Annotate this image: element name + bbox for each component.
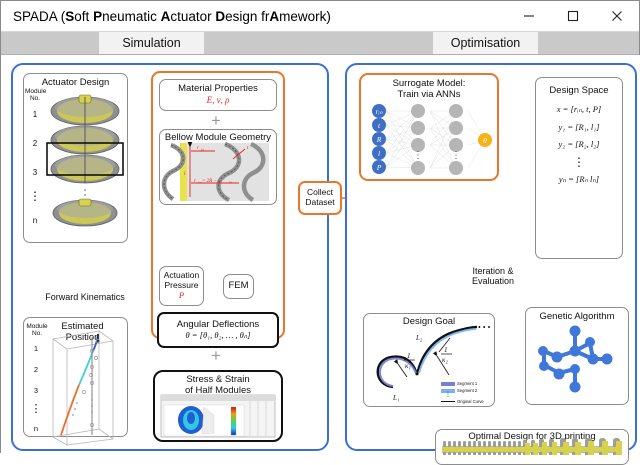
est-module-1: 1 — [28, 345, 44, 353]
est-module-label-2: No. — [32, 330, 42, 337]
actuator-module-n: n — [27, 217, 43, 226]
design-space-row-3: y₂ = [R₂, l₂] — [558, 140, 599, 150]
genetic-algorithm-box: Genetic Algorithm — [525, 307, 629, 405]
surrogate-model-title-2: Train via ANNs — [398, 90, 461, 101]
tab-optimisation[interactable]: Optimisation — [433, 32, 538, 54]
iteration-label-2: Evaluation — [472, 276, 514, 286]
ann-hidden1-dots: ⋮ — [411, 152, 425, 160]
ann-hidden1-node-1 — [411, 104, 425, 118]
design-space-row-n: yₙ = [Rₙ lₙ] — [559, 175, 599, 185]
est-module-n: n — [28, 425, 44, 433]
tab-bar: Simulation Optimisation — [1, 32, 639, 55]
design-space-row-2: y₁ = [R₁, l₁] — [558, 123, 599, 133]
optimal-design-title: Optimal Design for 3D printing — [468, 432, 595, 443]
maximize-icon[interactable] — [551, 1, 595, 31]
ann-input-node-2: t — [372, 118, 386, 132]
ann-hidden2-node-2 — [449, 121, 463, 135]
actuator-design-title: Actuator Design — [42, 78, 110, 89]
actuator-module-2: 2 — [27, 140, 43, 149]
application-window: SPADA (Soft Pneumatic Actuator Design fr… — [0, 0, 640, 453]
page-title: SPADA (Soft Pneumatic Actuator Design fr… — [13, 9, 331, 24]
close-icon[interactable] — [595, 1, 639, 31]
ann-input-node-5: P — [372, 160, 386, 174]
module-label-2: No. — [30, 95, 40, 102]
stress-strain-box: Stress & Strain of Half Modules — [153, 370, 283, 442]
minimize-icon[interactable] — [507, 1, 551, 31]
ann-hidden2-node-4 — [449, 161, 463, 175]
est-module-2: 2 — [28, 366, 44, 374]
angular-deflections-box: Angular Deflections θ = [θ₁, θ₂, … , θₙ] — [157, 312, 279, 348]
design-space-title: Design Space — [549, 86, 608, 97]
fem-label: FEM — [228, 281, 248, 292]
genetic-algorithm-title: Genetic Algorithm — [540, 312, 615, 323]
actuation-pressure-symbol: P — [179, 291, 184, 301]
plus-sign-2: + — [211, 347, 221, 364]
ann-hidden1-node-2 — [411, 121, 425, 135]
ann-input-node-1: rᵢₙ — [372, 104, 386, 118]
est-module-label-1: Module — [26, 323, 47, 330]
fem-box: FEM — [223, 274, 254, 299]
angular-deflections-title: Angular Deflections — [177, 320, 259, 331]
collect-dataset-box: Collect Dataset — [298, 181, 342, 215]
ann-output-node: θ — [478, 133, 492, 147]
title-bar: SPADA (Soft Pneumatic Actuator Design fr… — [1, 1, 639, 32]
material-properties-box: Material Properties E, ν, ρ — [159, 79, 277, 111]
estimated-module-header: Module No. — [26, 323, 48, 337]
collect-dataset-line2: Dataset — [305, 198, 334, 208]
window-controls — [507, 1, 639, 31]
design-goal-legend-item-4: Original Curve — [441, 399, 484, 404]
ann-hidden2-node-1 — [449, 104, 463, 118]
design-goal-legend-item-1: Segment 1 — [441, 381, 477, 386]
bellow-geometry-box: Bellow Module Geometry — [159, 129, 277, 205]
design-goal-legend-dots: ⋮ — [445, 393, 451, 398]
ann-input-node-3: R — [372, 132, 386, 146]
tab-optimisation-label: Optimisation — [451, 36, 520, 50]
legend-label-segment-2: Segment 2 — [457, 388, 477, 393]
est-module-dots: ⋮ — [28, 403, 44, 415]
module-label-1: Module — [25, 88, 46, 95]
forward-kinematics-label: Forward Kinematics — [29, 292, 141, 302]
est-module-3: 3 — [28, 387, 44, 395]
stress-strain-title-2: of Half Modules — [185, 386, 251, 397]
actuator-module-dots: ⋮ — [27, 190, 43, 203]
bellow-geometry-title: Bellow Module Geometry — [165, 133, 271, 144]
actuation-pressure-box: Actuation Pressure P — [159, 266, 204, 306]
plus-sign-1: + — [211, 112, 221, 129]
material-properties-title: Material Properties — [178, 84, 258, 95]
actuator-module-header: Module No. — [25, 88, 45, 102]
angular-deflections-equation: θ = [θ₁, θ₂, … , θₙ] — [185, 331, 250, 341]
legend-swatch-segment-1 — [441, 382, 455, 386]
legend-label-segment-1: Segment 1 — [457, 381, 477, 386]
material-properties-symbols: E, ν, ρ — [207, 95, 230, 105]
design-space-row-1: x = [rᵢₙ, t, P] — [557, 105, 601, 115]
design-goal-title: Design Goal — [403, 317, 455, 328]
ann-hidden2-dots: ⋮ — [449, 152, 463, 160]
iteration-label-1: Iteration & — [472, 266, 513, 276]
actuator-module-3: 3 — [27, 169, 43, 178]
iteration-evaluation-label: Iteration & Evaluation — [463, 266, 523, 287]
design-space-box: Design Space x = [rᵢₙ, t, P] y₁ = [R₁, l… — [535, 77, 623, 259]
tab-simulation-label: Simulation — [122, 36, 180, 50]
tab-simulation[interactable]: Simulation — [99, 32, 204, 54]
ann-hidden1-node-4 — [411, 161, 425, 175]
design-space-row-dots: ⋮ — [573, 158, 585, 167]
optimal-design-box: Optimal Design for 3D printing — [435, 429, 629, 465]
ann-input-node-4: l — [372, 146, 386, 160]
actuator-module-1: 1 — [27, 111, 43, 120]
legend-label-original-curve: Original Curve — [457, 399, 484, 404]
diagram-canvas: Actuator Design Module No. 1 2 3 ⋮ n — [1, 55, 640, 455]
legend-swatch-original-curve — [441, 401, 455, 403]
estimated-position-title-2: Position — [66, 333, 100, 344]
